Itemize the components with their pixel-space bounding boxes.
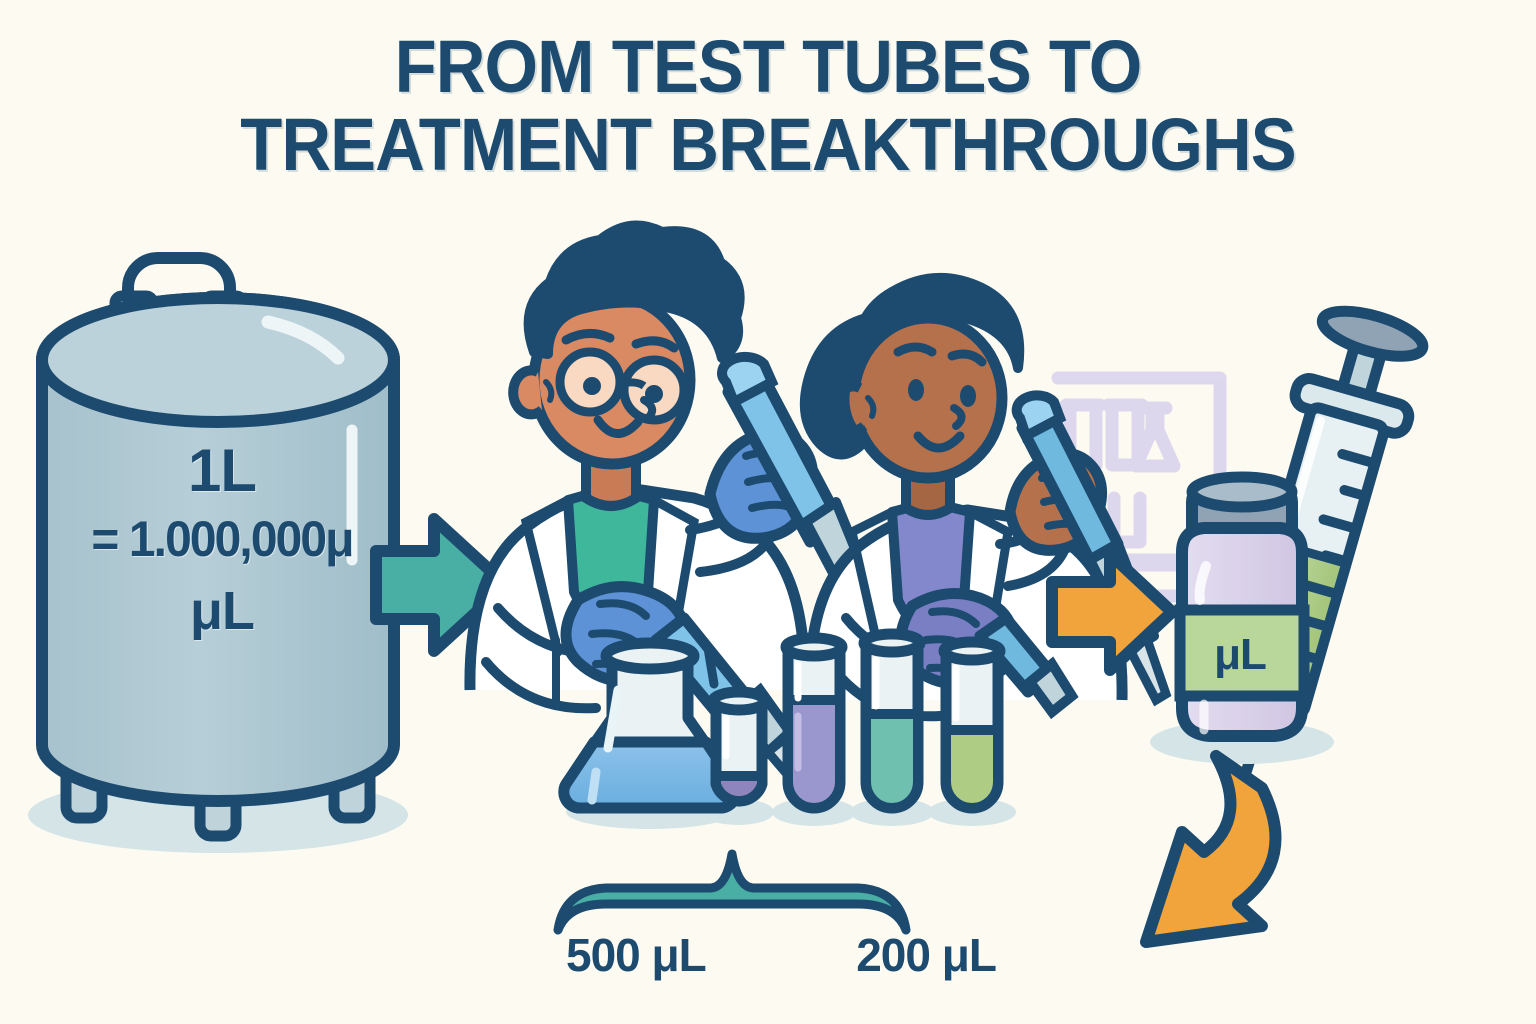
glassware-row xyxy=(564,634,1016,829)
test-tube-small xyxy=(713,692,765,801)
volume-labels: 500 μL 200 μL xyxy=(566,928,996,982)
test-tube-tall-1 xyxy=(786,638,842,808)
illustration-canvas: FROM TEST TUBES TO TREATMENT BREAKTHROUG… xyxy=(0,0,1536,1024)
volume-label-500: 500 μL xyxy=(566,928,706,982)
test-tube-tall-2 xyxy=(864,634,920,808)
tank-conversion-text: 1L = 1.000,000μ μL xyxy=(46,440,398,646)
test-tube-tall-3 xyxy=(944,642,1000,808)
tank-label-microliters: = 1.000,000μ xyxy=(53,502,391,576)
vial-label-text: μL xyxy=(1186,630,1294,680)
volume-label-200: 200 μL xyxy=(856,928,996,982)
tank-label-1l: 1L xyxy=(46,440,398,502)
tank-label-unit: μL xyxy=(46,576,398,646)
